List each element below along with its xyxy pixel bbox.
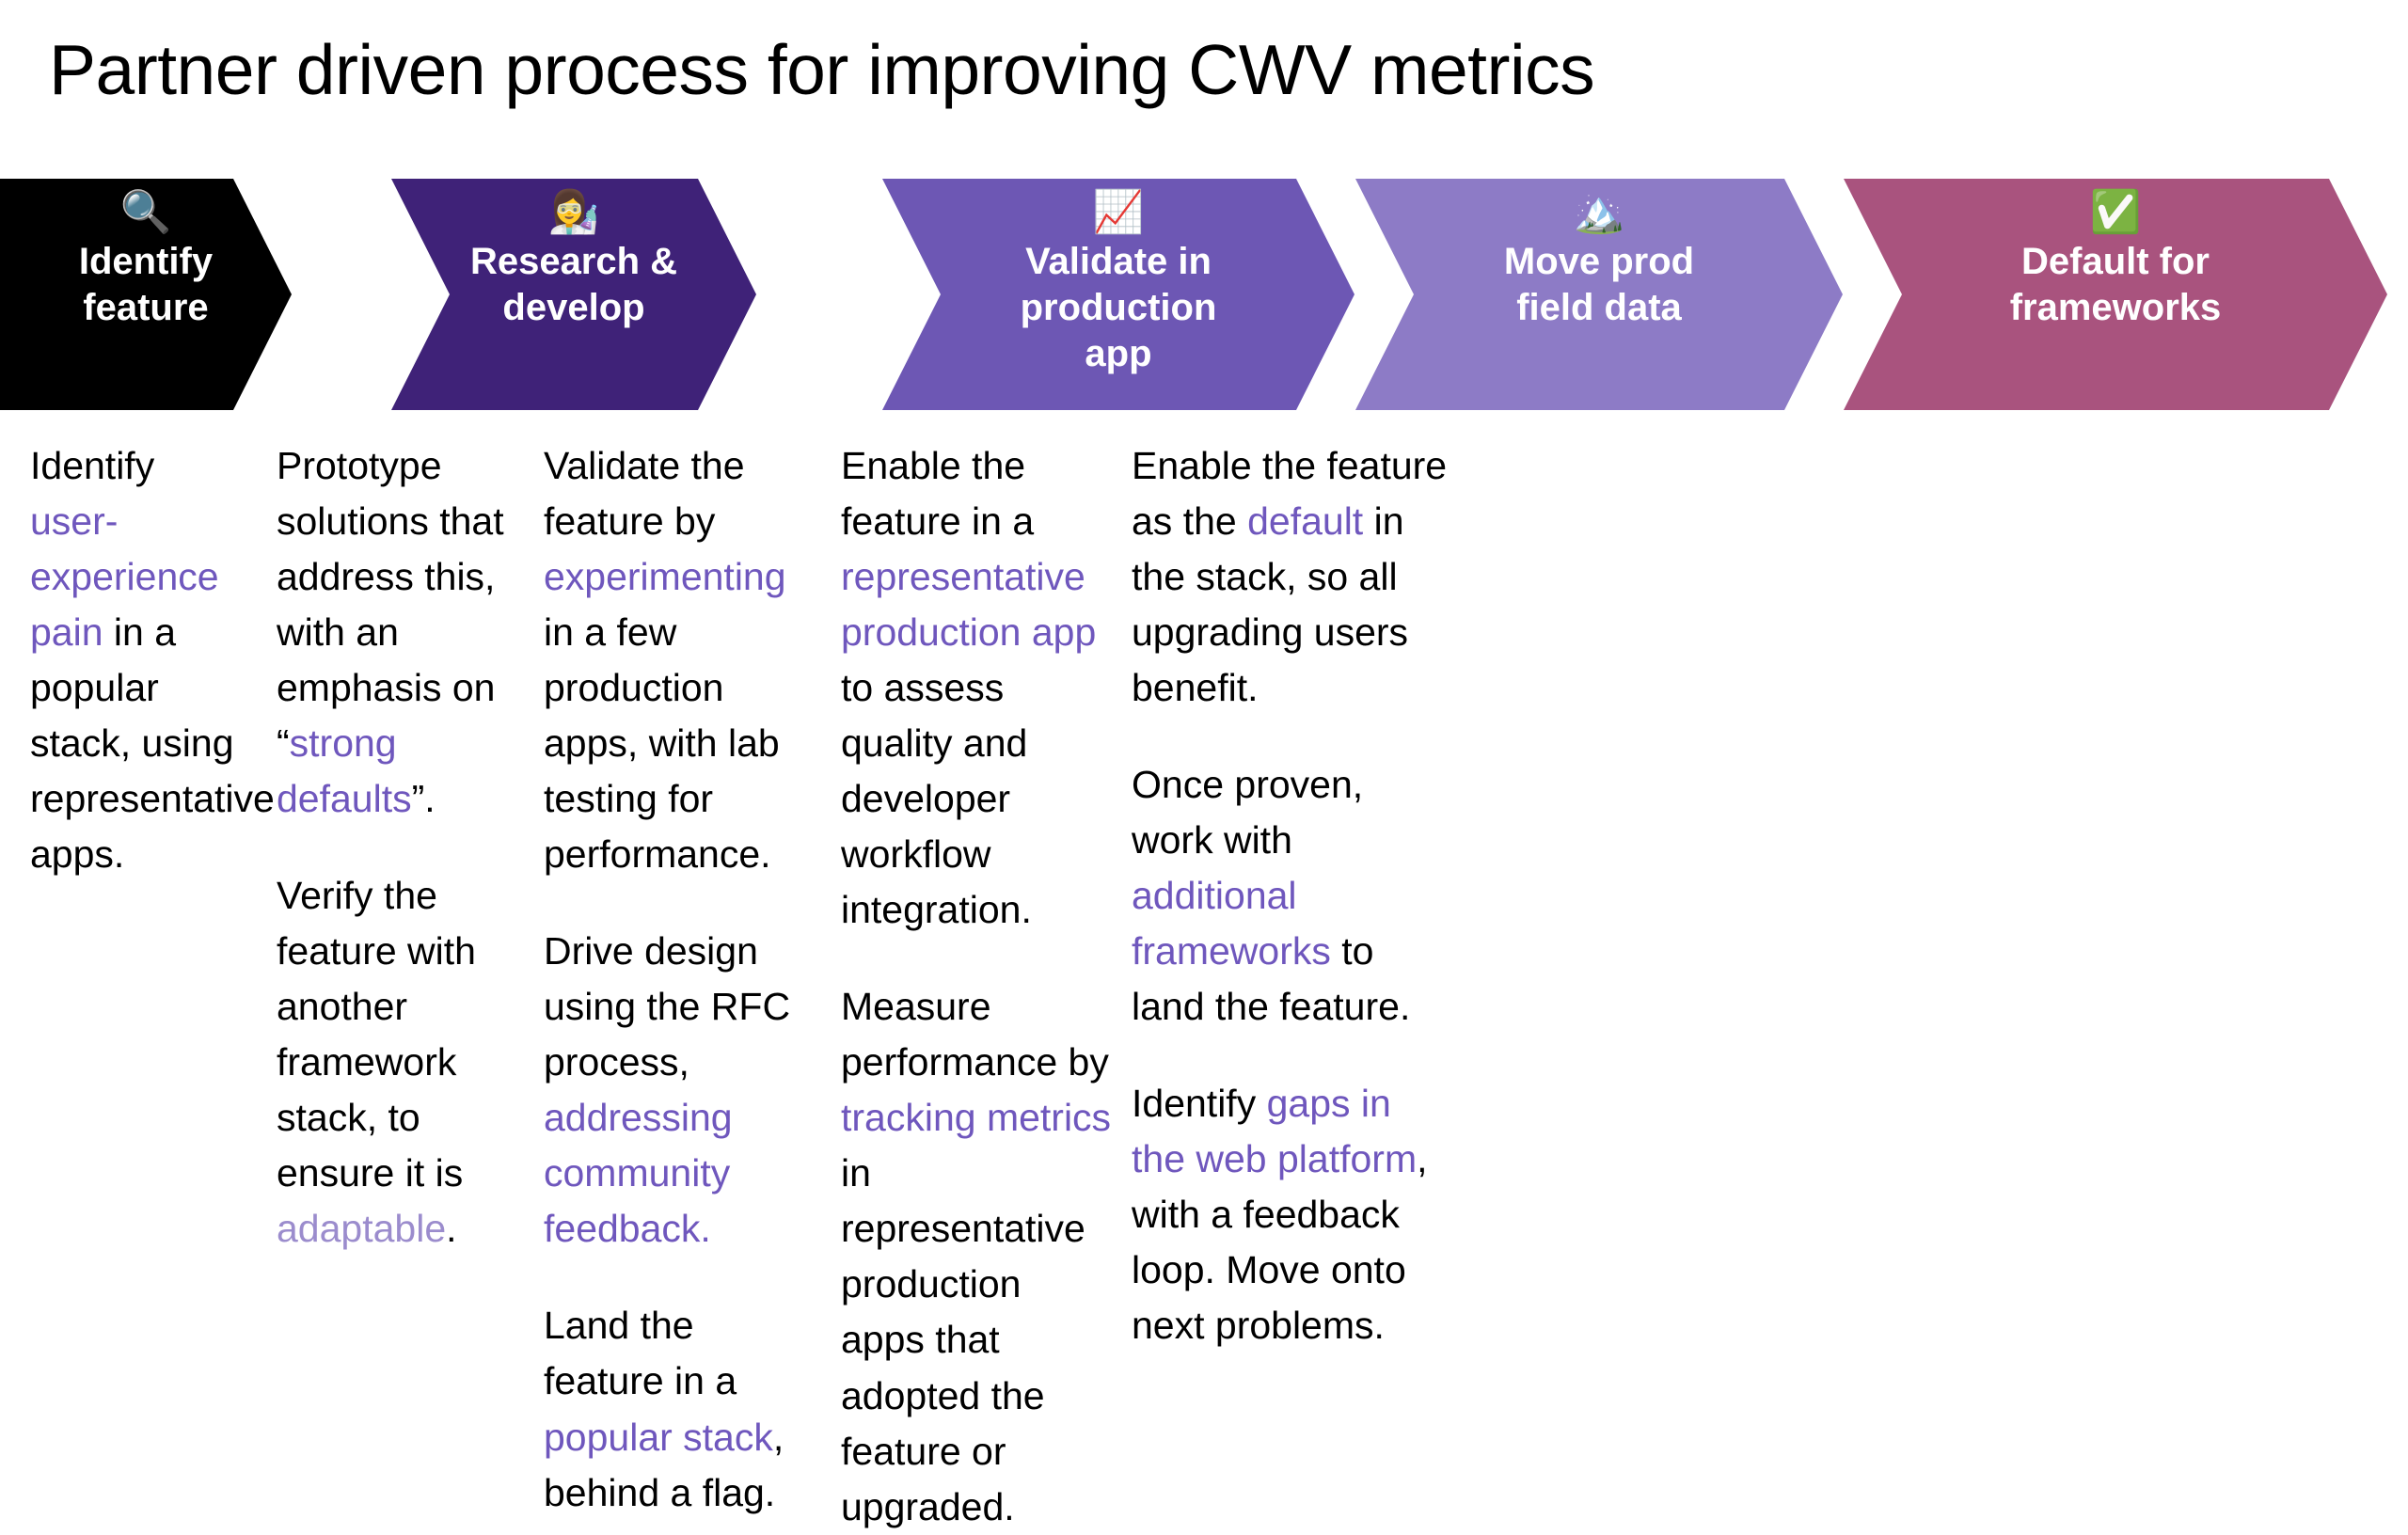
description-paragraph: Land the feature in a popular stack, beh… bbox=[544, 1298, 818, 1520]
body-text: in a few production apps, with lab testi… bbox=[544, 610, 780, 876]
highlighted-term: tracking metrics bbox=[841, 1096, 1111, 1139]
check-mark-button-icon: ✅ bbox=[2090, 188, 2142, 237]
body-text: Validate the feature by bbox=[544, 444, 745, 543]
process-step-4[interactable]: 🏔️Move prod field data bbox=[1355, 179, 1843, 410]
process-step-description-2: Prototype solutions that address this, w… bbox=[277, 438, 512, 1257]
description-paragraph: Drive design using the RFC process, addr… bbox=[544, 924, 818, 1257]
description-paragraph: Verify the feature with another framewor… bbox=[277, 868, 512, 1257]
description-paragraph: Prototype solutions that address this, w… bbox=[277, 438, 512, 827]
process-step-5[interactable]: ✅Default for frameworks bbox=[1844, 179, 2387, 410]
process-step-description-4: Enable the feature in a representative p… bbox=[841, 438, 1112, 1535]
highlighted-term: popular stack bbox=[544, 1416, 773, 1459]
process-step-label: Validate in production app bbox=[1002, 239, 1236, 376]
chart-increasing-icon: 📈 bbox=[1093, 188, 1145, 237]
snow-capped-mountain-icon: 🏔️ bbox=[1574, 188, 1625, 237]
description-paragraph: Identify gaps in the web platform, with … bbox=[1132, 1076, 1451, 1353]
highlighted-term: additional frameworks bbox=[1132, 874, 1331, 973]
body-text: Identify bbox=[30, 444, 154, 487]
body-text: to assess quality and developer workflow… bbox=[841, 666, 1032, 931]
process-step-label: Research & develop bbox=[451, 239, 696, 331]
description-paragraph: Once proven, work with additional framew… bbox=[1132, 757, 1451, 1035]
description-paragraph: Validate the feature by experimenting in… bbox=[544, 438, 818, 882]
body-text: Identify bbox=[1132, 1082, 1267, 1125]
process-step-label: Default for frameworks bbox=[1991, 239, 2241, 331]
body-text: Enable the feature in a bbox=[841, 444, 1034, 543]
process-step-description-5: Enable the feature as the default in the… bbox=[1132, 438, 1451, 1353]
slide-root: Partner driven process for improving CWV… bbox=[0, 0, 2408, 1354]
process-step-label: Identify feature bbox=[60, 239, 231, 331]
body-text: in representative production apps that a… bbox=[841, 1151, 1085, 1527]
body-text: Prototype solutions that address this, w… bbox=[277, 444, 504, 765]
body-text: Measure performance by bbox=[841, 985, 1109, 1084]
body-text: Drive design using the RFC process, bbox=[544, 929, 790, 1084]
highlighted-term: experimenting bbox=[544, 555, 786, 598]
process-chevron-band: 🔍Identify feature👩‍🔬Research & develop📈V… bbox=[0, 179, 2408, 410]
description-paragraph: Identify user-experience pain in a popul… bbox=[30, 438, 248, 882]
process-step-1[interactable]: 🔍Identify feature bbox=[0, 179, 292, 410]
process-step-description-1: Identify user-experience pain in a popul… bbox=[30, 438, 248, 882]
highlighted-term: adaptable bbox=[277, 1207, 446, 1250]
magnifying-glass-icon: 🔍 bbox=[120, 188, 172, 237]
description-paragraph: Enable the feature as the default in the… bbox=[1132, 438, 1451, 716]
description-paragraph: Measure performance by tracking metrics … bbox=[841, 979, 1112, 1534]
process-step-2[interactable]: 👩‍🔬Research & develop bbox=[391, 179, 756, 410]
scientist-icon: 👩‍🔬 bbox=[548, 188, 600, 237]
highlighted-term: default bbox=[1247, 499, 1363, 543]
process-body-columns: Identify user-experience pain in a popul… bbox=[0, 438, 2408, 1285]
page-title: Partner driven process for improving CWV… bbox=[49, 30, 1594, 109]
description-paragraph: Enable the feature in a representative p… bbox=[841, 438, 1112, 938]
highlighted-term: strong defaults bbox=[277, 721, 412, 820]
body-text: Once proven, work with bbox=[1132, 763, 1363, 862]
highlighted-term: addressing community feedback. bbox=[544, 1096, 733, 1250]
body-text: Land the feature in a bbox=[544, 1304, 737, 1402]
body-text: Verify the feature with another framewor… bbox=[277, 874, 476, 1195]
highlighted-term: representative production app bbox=[841, 555, 1096, 654]
body-text: ”. bbox=[412, 777, 436, 820]
process-step-description-3: Validate the feature by experimenting in… bbox=[544, 438, 818, 1521]
process-step-label: Move prod field data bbox=[1485, 239, 1713, 331]
body-text: . bbox=[446, 1207, 456, 1250]
process-step-3[interactable]: 📈Validate in production app bbox=[882, 179, 1354, 410]
